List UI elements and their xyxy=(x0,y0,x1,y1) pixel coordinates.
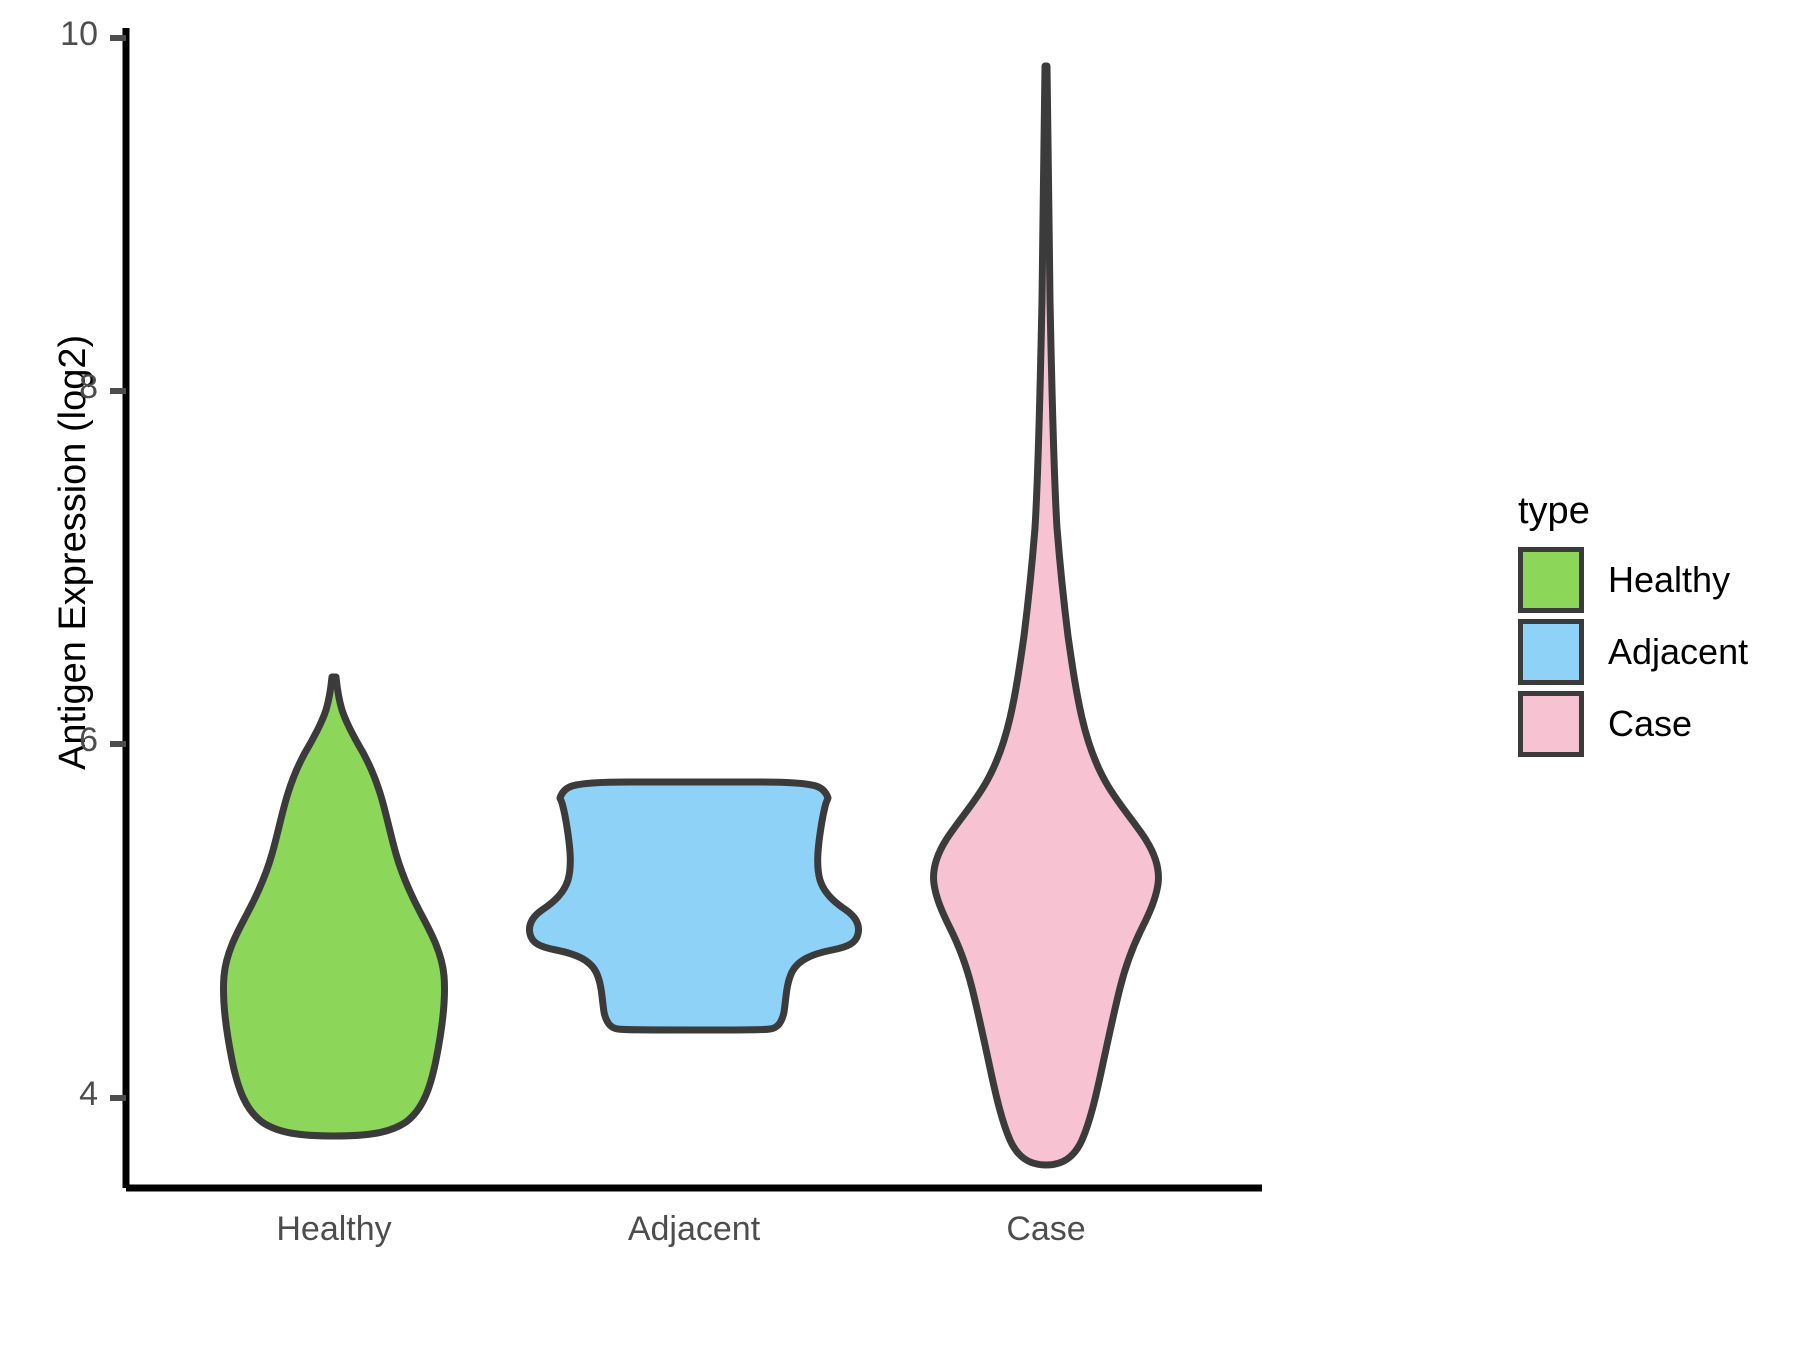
x-tick-label-adjacent: Adjacent xyxy=(574,1210,814,1249)
y-tick-label-6: 6 xyxy=(28,721,98,760)
y-tick-label-8: 8 xyxy=(28,368,98,407)
legend-item-healthy[interactable]: Healthy xyxy=(1518,544,1748,616)
legend-label-healthy: Healthy xyxy=(1608,562,1730,598)
legend-swatch-adjacent xyxy=(1518,619,1584,685)
legend-title: type xyxy=(1518,492,1748,530)
legend-item-adjacent[interactable]: Adjacent xyxy=(1518,616,1748,688)
legend-swatch-case xyxy=(1518,691,1584,757)
y-tick-label-4: 4 xyxy=(28,1075,98,1114)
violin-plot-figure: Antigen Expression (log2) 10 8 6 4 Healt… xyxy=(0,0,1800,1350)
violin-adjacent xyxy=(530,782,859,1030)
y-tick-label-10: 10 xyxy=(28,15,98,54)
x-tick-label-healthy: Healthy xyxy=(214,1210,454,1249)
legend-label-adjacent: Adjacent xyxy=(1608,634,1748,670)
legend-label-case: Case xyxy=(1608,706,1692,742)
legend-item-case[interactable]: Case xyxy=(1518,688,1748,760)
violin-case xyxy=(934,66,1159,1165)
legend: type Healthy Adjacent Case xyxy=(1518,492,1748,760)
violin-healthy xyxy=(223,677,444,1136)
x-tick-label-case: Case xyxy=(926,1210,1166,1249)
legend-swatch-healthy xyxy=(1518,547,1584,613)
